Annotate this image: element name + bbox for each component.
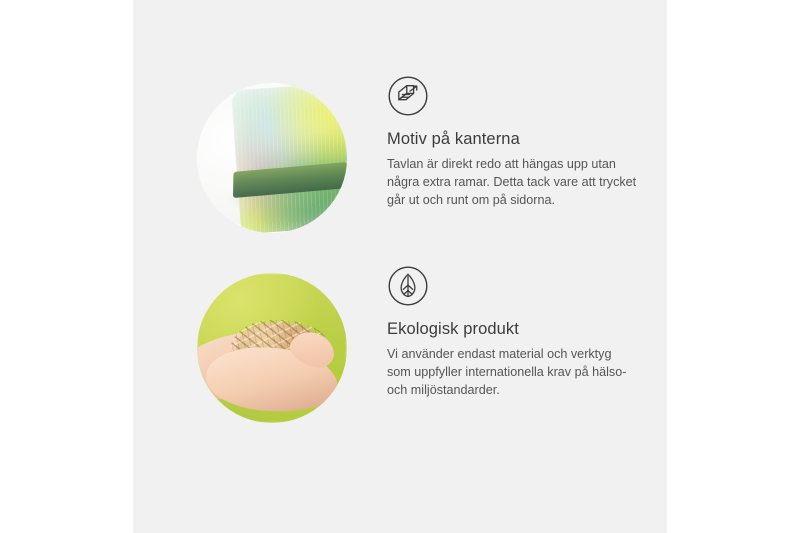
- feature-title: Motiv på kanterna: [387, 130, 657, 148]
- feature-text-block: Motiv på kanterna Tavlan är direkt redo …: [385, 75, 657, 210]
- leaf-icon: [387, 265, 429, 307]
- feature-block-ekologisk-produkt: Ekologisk produkt Vi använder endast mat…: [133, 265, 667, 445]
- feature-description: Vi använder endast material och verktyg …: [387, 346, 637, 400]
- product-feature-infographic: Motiv på kanterna Tavlan är direkt redo …: [0, 0, 800, 533]
- content-panel: Motiv på kanterna Tavlan är direkt redo …: [133, 0, 667, 533]
- feature-text-block: Ekologisk produkt Vi använder endast mat…: [385, 265, 657, 400]
- feature-description: Tavlan är direkt redo att hängas upp uta…: [387, 156, 637, 210]
- canvas-artwork-surface: [231, 83, 347, 233]
- canvas-print-corner-photo: [197, 83, 347, 233]
- wrapped-canvas-edge-icon: [387, 75, 429, 117]
- feature-block-motiv-pa-kanterna: Motiv på kanterna Tavlan är direkt redo …: [133, 75, 667, 255]
- hands-holding-wood-chips-photo: [197, 273, 347, 423]
- canvas-photo-scene: [197, 83, 347, 233]
- wood-chips-scene: [197, 273, 347, 423]
- feature-title: Ekologisk produkt: [387, 320, 657, 338]
